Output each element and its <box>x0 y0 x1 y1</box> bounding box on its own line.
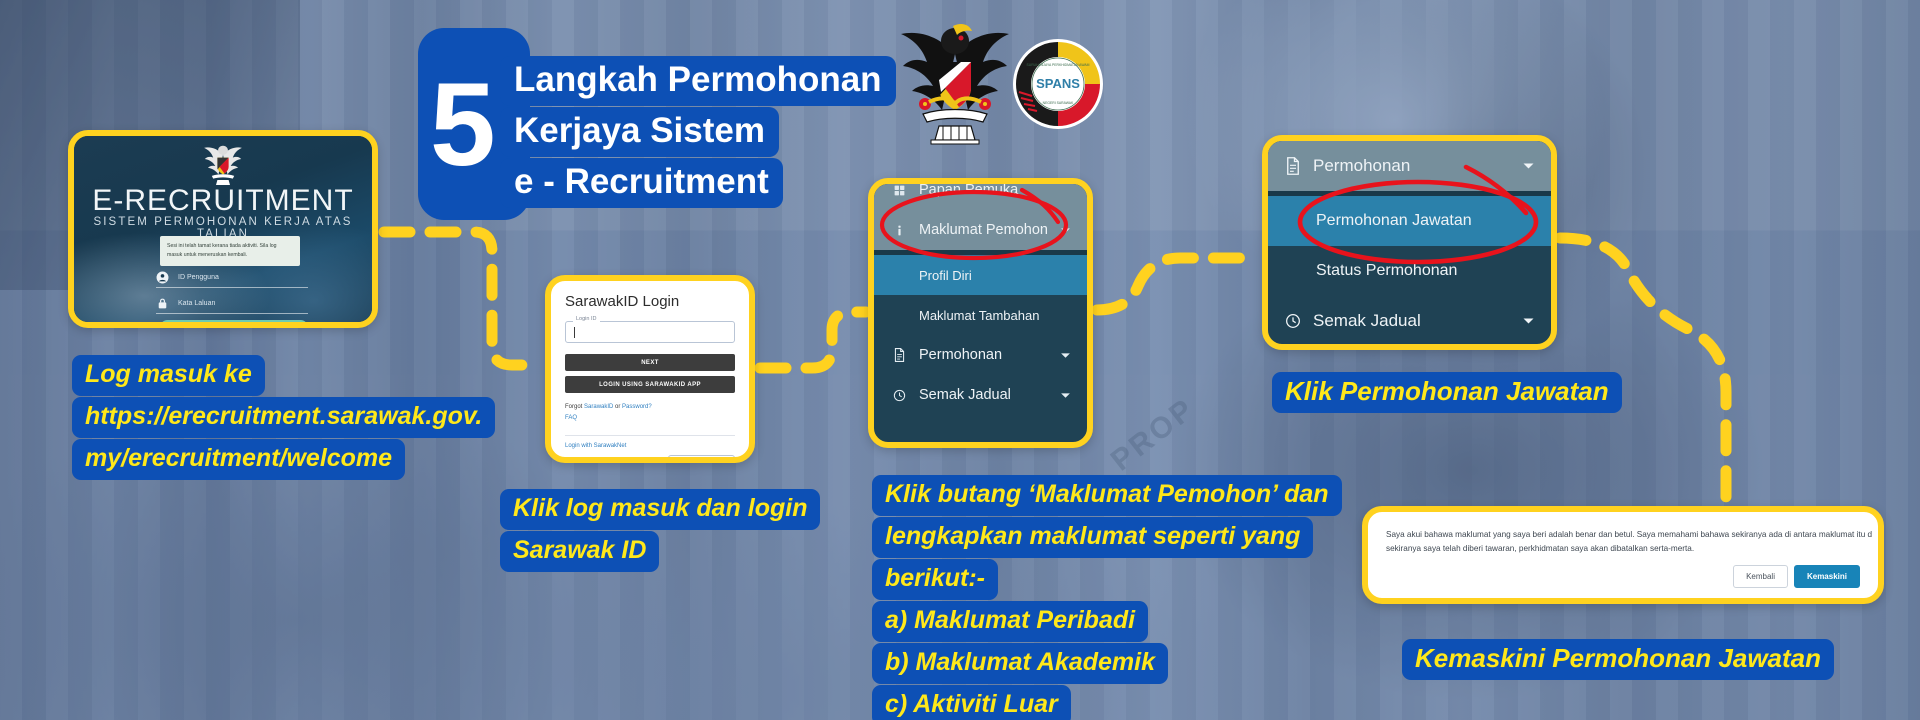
erecruitment-password-label: Kata Laluan <box>178 300 215 307</box>
sidebar-menu-permohonan[interactable]: Permohonan Permohonan Jawatan Status Per… <box>1262 135 1557 350</box>
erecruitment-password-field[interactable]: Kata Laluan <box>156 294 308 314</box>
header-title-line-3: e - Recruitment <box>500 158 783 208</box>
sidebar-item-maklumat-tambahan[interactable]: Maklumat Tambahan <box>874 295 1087 335</box>
header-title-lines: Langkah Permohonan Kerjaya Sistem e - Re… <box>500 56 896 209</box>
caption-kemaskini: Kemaskini Permohonan Jawatan <box>1402 639 1834 681</box>
sidebar-label-profil-diri: Profil Diri <box>919 268 972 283</box>
caption-maklumat-pemohon: Klik butang ‘Maklumat Pemohon’ dan lengk… <box>872 475 1342 720</box>
erecruitment-session-alert: Sesi ini telah tamat kerana tiada aktivi… <box>160 236 300 266</box>
caption-maklumat-item-b: b) Maklumat Akademik <box>872 643 1168 684</box>
dialog-submit-button[interactable]: Kemaskini <box>1794 565 1860 588</box>
sarawakid-title: SarawakID Login <box>565 293 735 310</box>
sidebar-label-maklumat-pemohon: Maklumat Pemohon <box>919 222 1048 238</box>
chevron-down-icon <box>1060 221 1071 239</box>
sarawakid-next-button[interactable]: NEXT <box>565 354 735 371</box>
sidebar-item-status-permohonan[interactable]: Status Permohonan <box>1268 246 1551 296</box>
svg-text:NEGERI SARAWAK: NEGERI SARAWAK <box>1043 101 1074 105</box>
confirmation-dialog-card[interactable]: Saya akui bahawa maklumat yang saya beri… <box>1362 506 1884 604</box>
caption-kemaskini-line-1: Kemaskini Permohonan Jawatan <box>1402 639 1834 680</box>
caption-permohonan-line-1: Klik Permohonan Jawatan <box>1272 372 1622 413</box>
forgot-sarawakid-link[interactable]: SarawakID <box>584 404 613 410</box>
dialog-text-line-2: sekiranya saya telah diberi tawaran, per… <box>1386 542 1860 556</box>
header-title-line-1: Langkah Permohonan <box>500 56 896 106</box>
caption-login-line-2: https://erecruitment.sarawak.gov. <box>72 397 495 438</box>
document-icon <box>890 348 908 362</box>
caption-maklumat-line-2: lengkapkan maklumat seperti yang <box>872 517 1313 558</box>
erecruitment-landing-card[interactable]: E-RECRUITMENT SISTEM PERMOHONAN KERJA AT… <box>68 130 378 328</box>
sarawakid-login-id-label: Login ID <box>573 316 600 322</box>
sidebar-menu-maklumat-pemohon[interactable]: Papan Pemuka Maklumat Pemohon Profil Dir… <box>868 178 1093 448</box>
chevron-down-icon <box>1060 386 1071 404</box>
spans-logo-icon: SPANS SURUHANJAYA PERKHIDMATAN AWAM NEGE… <box>1012 38 1104 130</box>
caption-sarawakid-line-2: Sarawak ID <box>500 531 659 572</box>
sidebar-label-permohonan-jawatan: Permohonan Jawatan <box>1316 212 1472 230</box>
forgot-mid-text: or <box>613 404 622 410</box>
sidebar-label-papan-pemuka: Papan Pemuka <box>919 182 1018 198</box>
sarawakid-forgot-row: Forgot SarawakID or Password? <box>565 402 735 413</box>
sarawakid-divider <box>565 435 735 436</box>
chevron-down-icon <box>1522 312 1535 330</box>
infographic-canvas: PROP 5 Langkah Permohonan Kerjaya Sistem… <box>0 0 1920 720</box>
sidebar-item-permohonan[interactable]: Permohonan <box>874 335 1087 375</box>
sidebar-label-permohonan: Permohonan <box>919 347 1002 363</box>
sarawakid-app-login-button[interactable]: LOGIN USING SARAWAKID APP <box>565 376 735 393</box>
dashboard-icon <box>890 184 908 197</box>
sarawakid-login-card[interactable]: SarawakID Login Login ID NEXT LOGIN USIN… <box>545 275 755 463</box>
caption-login-line-3: my/erecruitment/welcome <box>72 439 405 480</box>
erecruitment-username-field[interactable]: ID Pengguna <box>156 268 308 288</box>
info-icon <box>890 224 908 237</box>
dialog-text-line-1: Saya akui bahawa maklumat yang saya beri… <box>1386 528 1860 542</box>
sidebar-label-semak-jadual: Semak Jadual <box>919 387 1011 403</box>
caption-maklumat-item-a: a) Maklumat Peribadi <box>872 601 1148 642</box>
sarawakid-login-id-field[interactable]: Login ID <box>565 321 735 343</box>
sidebar-item-papan-pemuka[interactable]: Papan Pemuka <box>874 178 1087 210</box>
caption-sarawakid: Klik log masuk dan login Sarawak ID <box>500 489 820 573</box>
caption-login-url: Log masuk ke https://erecruitment.sarawa… <box>72 355 495 481</box>
erecruitment-login-button[interactable]: Log Masuk <box>160 320 308 328</box>
header-step-number: 5 <box>430 66 494 184</box>
forgot-password-link[interactable]: Password? <box>622 404 652 410</box>
sidebar-label-maklumat-tambahan: Maklumat Tambahan <box>919 308 1039 323</box>
sarawakid-no-account-text: Don't have an account yet? <box>565 460 638 463</box>
clock-icon <box>1284 313 1302 329</box>
caption-permohonan-jawatan: Klik Permohonan Jawatan <box>1272 372 1622 414</box>
erecruitment-crest-icon <box>202 142 244 188</box>
chevron-down-icon <box>1060 346 1071 364</box>
sarawak-coat-of-arms-icon <box>895 18 1015 148</box>
clock-icon <box>890 389 908 402</box>
dialog-cancel-button[interactable]: Kembali <box>1733 565 1788 588</box>
user-icon <box>156 271 169 284</box>
caption-maklumat-line-1: Klik butang ‘Maklumat Pemohon’ dan <box>872 475 1342 516</box>
sidebar-item-semak-jadual-right[interactable]: Semak Jadual <box>1268 296 1551 346</box>
faq-link[interactable]: FAQ <box>565 415 577 421</box>
sidebar-label-semak-jadual-right: Semak Jadual <box>1313 311 1421 331</box>
sidebar-item-maklumat-pemohon[interactable]: Maklumat Pemohon <box>874 210 1087 250</box>
sarawaknet-login-link[interactable]: Login with SarawakNet <box>565 443 626 449</box>
sidebar-label-status-permohonan: Status Permohonan <box>1316 262 1457 280</box>
sidebar-item-profil-diri[interactable]: Profil Diri <box>874 255 1087 295</box>
erecruitment-title: E-RECRUITMENT <box>74 184 372 218</box>
caption-login-line-1: Log masuk ke <box>72 355 265 396</box>
svg-text:SPANS: SPANS <box>1036 76 1080 91</box>
erecruitment-username-label: ID Pengguna <box>178 274 219 281</box>
text-caret-icon <box>574 327 575 338</box>
forgot-prefix-text: Forgot <box>565 404 584 410</box>
sidebar-item-semak-jadual[interactable]: Semak Jadual <box>874 375 1087 415</box>
sarawakid-register-button[interactable]: REGISTER NOW <box>668 455 735 463</box>
document-icon <box>1284 157 1302 175</box>
caption-maklumat-item-c: c) Aktiviti Luar <box>872 685 1071 720</box>
header-title-line-2: Kerjaya Sistem <box>500 107 779 157</box>
sidebar-item-permohonan-jawatan[interactable]: Permohonan Jawatan <box>1268 196 1551 246</box>
caption-sarawakid-line-1: Klik log masuk dan login <box>500 489 820 530</box>
sidebar-item-permohonan-head[interactable]: Permohonan <box>1268 141 1551 191</box>
chevron-down-icon <box>1522 157 1535 175</box>
svg-text:SURUHANJAYA PERKHIDMATAN AWAM: SURUHANJAYA PERKHIDMATAN AWAM <box>1027 63 1090 67</box>
caption-maklumat-line-3: berikut:- <box>872 559 998 600</box>
lock-icon <box>156 297 169 310</box>
sidebar-label-permohonan-head: Permohonan <box>1313 156 1410 176</box>
